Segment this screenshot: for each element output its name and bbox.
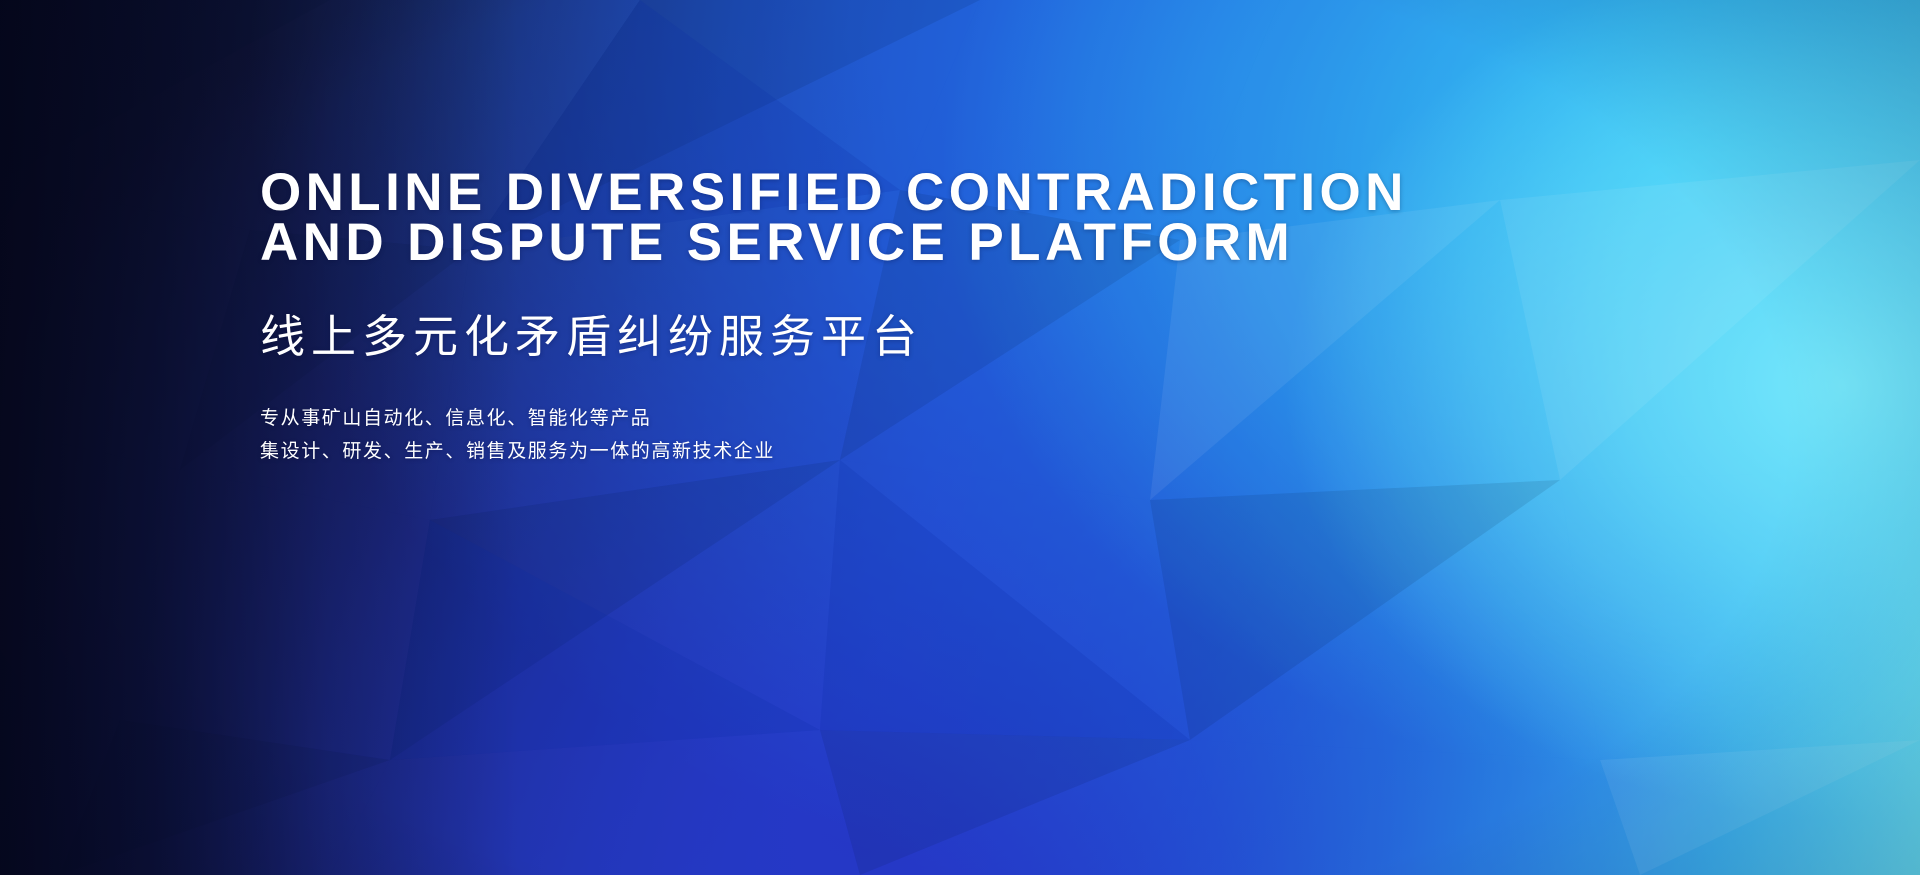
hero-subtitle-chinese: 线上多元化矛盾纠纷服务平台 — [260, 310, 1460, 364]
hero-description: 专从事矿山自动化、信息化、智能化等产品 集设计、研发、生产、销售及服务为一体的高… — [260, 402, 1460, 468]
hero-content: ONLINE DIVERSIFIED CONTRADICTION AND DIS… — [260, 168, 1460, 468]
hero-banner: ONLINE DIVERSIFIED CONTRADICTION AND DIS… — [0, 0, 1920, 875]
hero-headline-english: ONLINE DIVERSIFIED CONTRADICTION AND DIS… — [260, 168, 1460, 268]
hero-description-line-1: 专从事矿山自动化、信息化、智能化等产品 — [260, 402, 1460, 435]
hero-description-line-2: 集设计、研发、生产、销售及服务为一体的高新技术企业 — [260, 435, 1460, 468]
